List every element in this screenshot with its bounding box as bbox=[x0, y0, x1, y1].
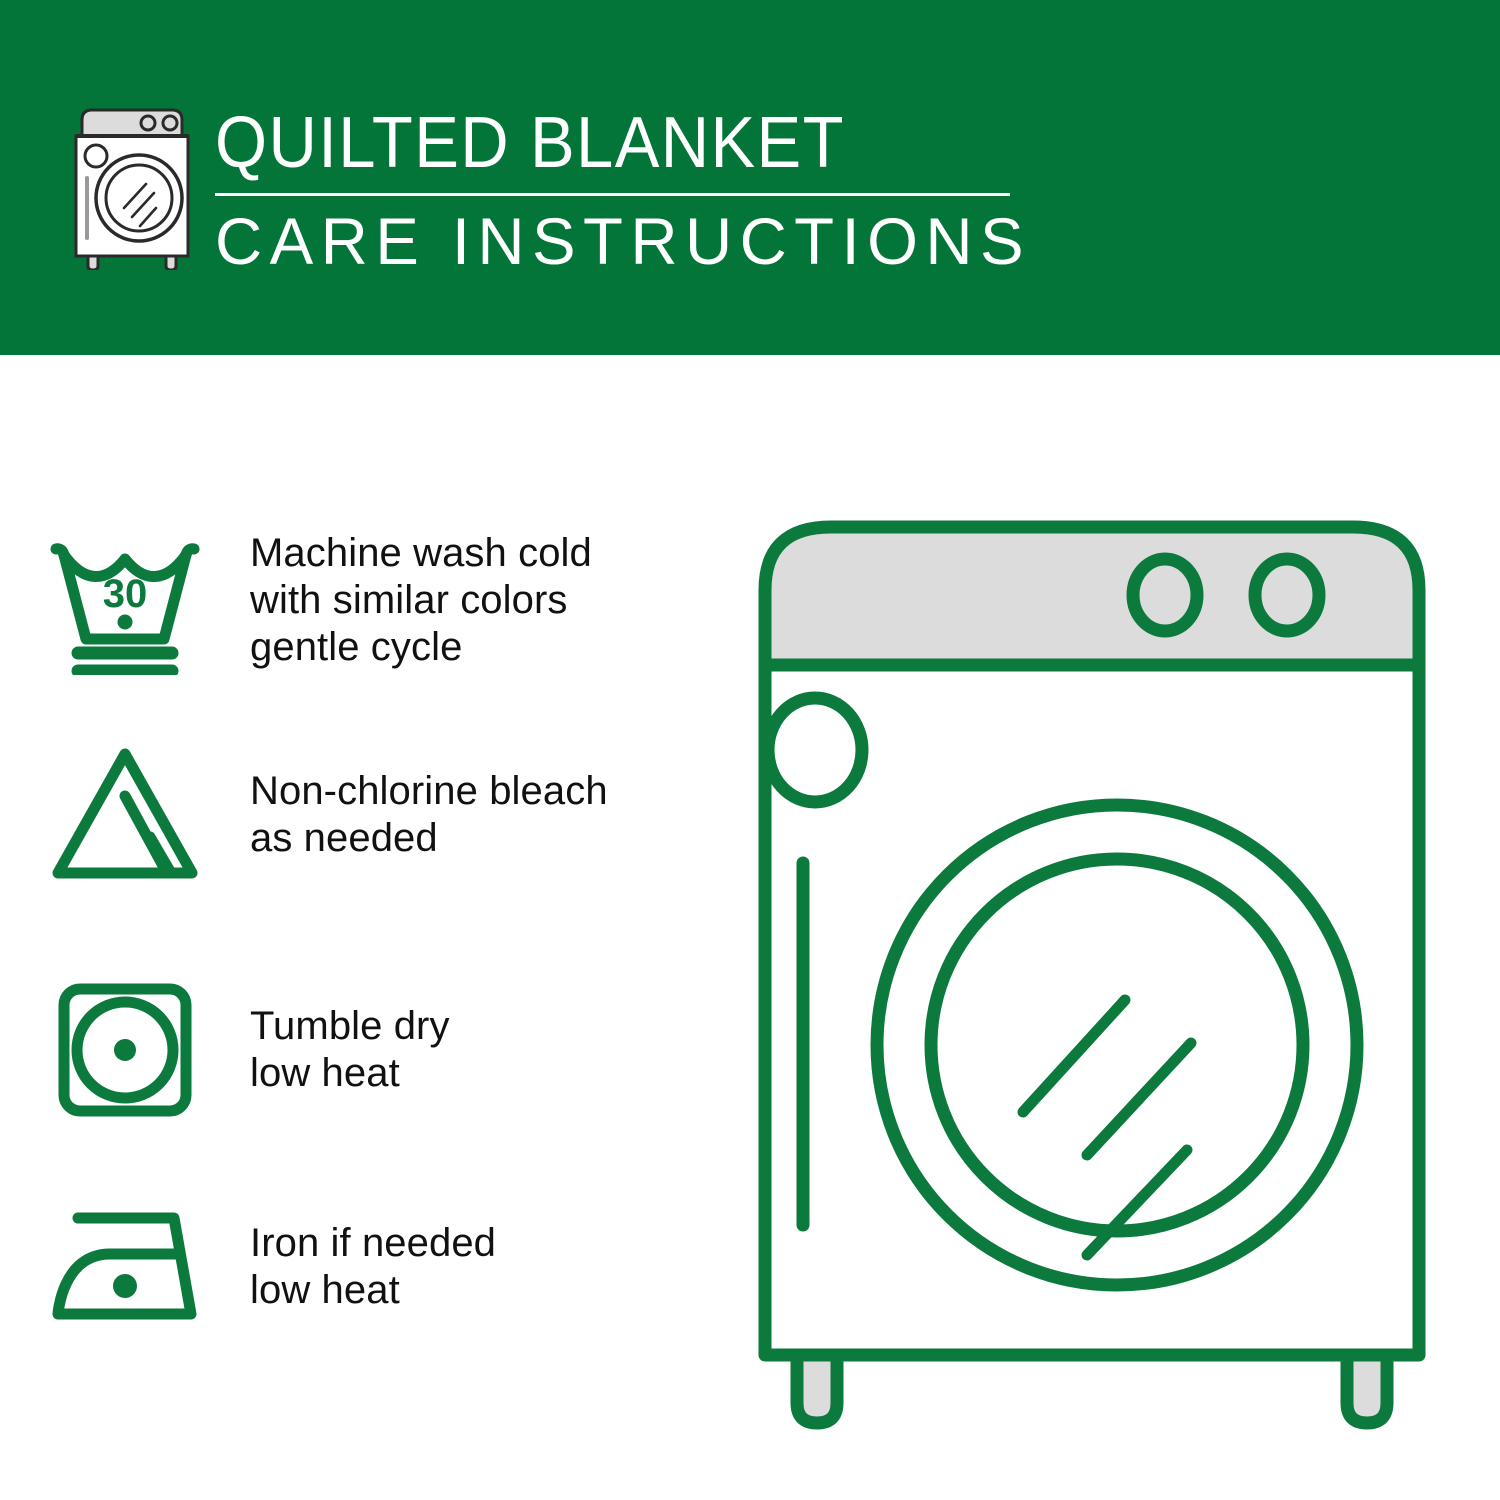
care-item-iron: Iron if needed low heat bbox=[0, 1172, 720, 1362]
tumble-dry-low-icon bbox=[0, 975, 250, 1125]
care-item-machine-wash: 30 Machine wash cold with similar colors… bbox=[0, 500, 720, 700]
header-band: QUILTED BLANKET CARE INSTRUCTIONS bbox=[0, 0, 1500, 355]
wash-tub-30-gentle-icon: 30 bbox=[0, 525, 250, 675]
wash-temperature-label: 30 bbox=[103, 572, 148, 616]
care-line: Tumble dry bbox=[250, 1003, 450, 1050]
page-subtitle: CARE INSTRUCTIONS bbox=[215, 202, 1017, 280]
care-line: as needed bbox=[250, 815, 608, 862]
page-title: QUILTED BLANKET bbox=[215, 102, 968, 184]
non-chlorine-bleach-triangle-icon bbox=[0, 740, 250, 890]
leg-left bbox=[797, 1353, 837, 1423]
care-line: Machine wash cold bbox=[250, 530, 592, 577]
leg-right bbox=[1347, 1353, 1387, 1423]
knob-right bbox=[1255, 559, 1319, 631]
header-text-block: QUILTED BLANKET CARE INSTRUCTIONS bbox=[215, 102, 1025, 280]
iron-low-heat-icon bbox=[0, 1192, 250, 1342]
care-item-bleach: Non-chlorine bleach as needed bbox=[0, 715, 720, 915]
care-item-text: Machine wash cold with similar colors ge… bbox=[250, 530, 592, 671]
washing-machine-icon bbox=[62, 100, 202, 270]
care-item-tumble-dry: Tumble dry low heat bbox=[0, 955, 720, 1145]
knob-left bbox=[1133, 559, 1197, 631]
care-line: gentle cycle bbox=[250, 624, 592, 671]
care-line: with similar colors bbox=[250, 577, 592, 624]
care-instructions-infographic: QUILTED BLANKET CARE INSTRUCTIONS 30 bbox=[0, 0, 1500, 1500]
care-item-text: Iron if needed low heat bbox=[250, 1220, 496, 1314]
care-line: Non-chlorine bleach bbox=[250, 768, 608, 815]
care-line: low heat bbox=[250, 1267, 496, 1314]
care-line: Iron if needed bbox=[250, 1220, 496, 1267]
care-item-text: Tumble dry low heat bbox=[250, 1003, 450, 1097]
title-divider bbox=[215, 193, 1010, 196]
front-load-washing-machine-illustration bbox=[735, 495, 1465, 1435]
care-line: low heat bbox=[250, 1050, 450, 1097]
detergent-dispenser-circle bbox=[768, 698, 862, 802]
care-item-text: Non-chlorine bleach as needed bbox=[250, 768, 608, 862]
